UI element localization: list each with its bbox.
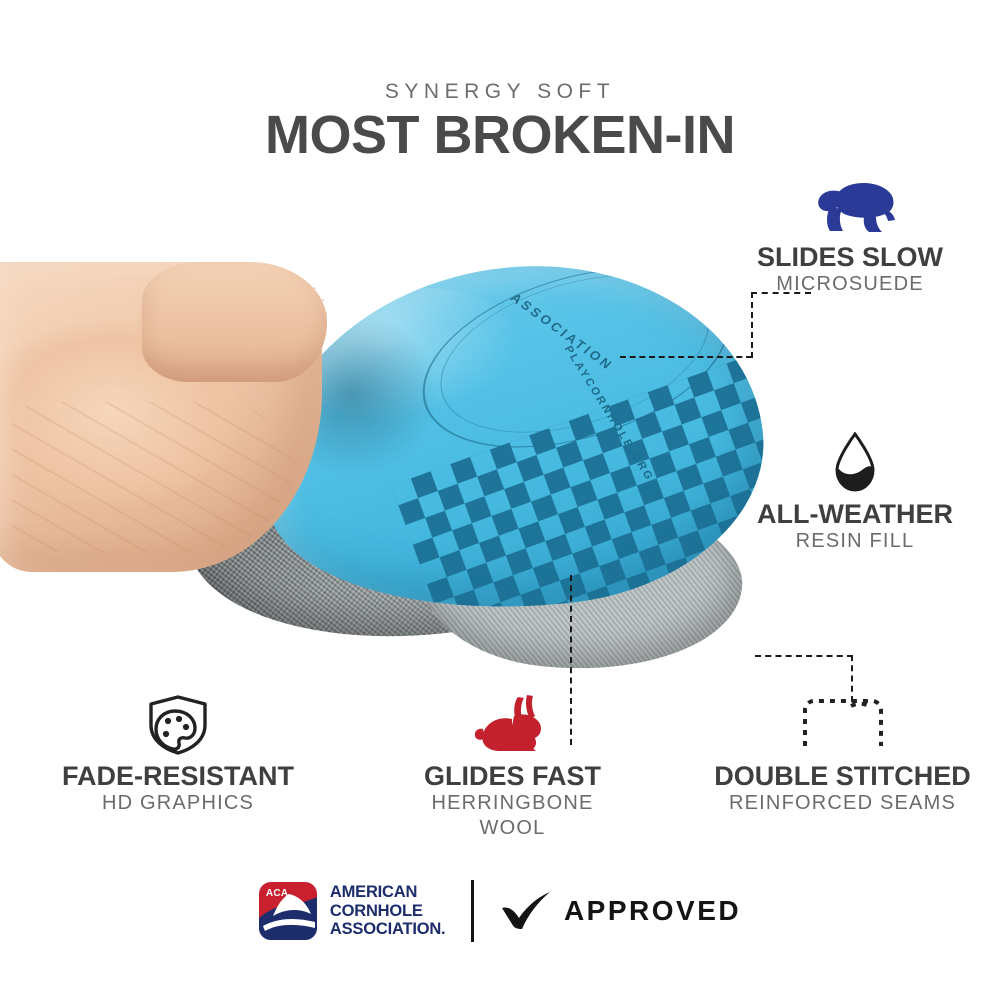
approved-badge: APPROVED <box>500 890 741 932</box>
aca-wordmark-line3: ASSOCIATION. <box>330 920 446 938</box>
feature-subtitle: HD GRAPHICS <box>28 792 328 814</box>
rabbit-icon <box>375 694 650 756</box>
connector-slides-slow-vertical <box>751 292 753 358</box>
aca-wordmark-line1: AMERICAN <box>330 883 446 901</box>
feature-title: GLIDES FAST <box>375 762 650 790</box>
footer-badges: ACA AMERICAN CORNHOLE ASSOCIATION. APPRO… <box>0 866 1000 956</box>
feature-title: SLIDES SLOW <box>700 243 1000 271</box>
connector-double-stitched-horizontal <box>755 655 853 657</box>
feature-title: ALL-WEATHER <box>715 500 995 528</box>
feature-subtitle: MICROSUEDE <box>700 273 1000 295</box>
aca-mark-label: ACA <box>266 888 289 899</box>
turtle-icon <box>700 175 1000 237</box>
feature-subtitle: REINFORCED SEAMS <box>690 792 995 814</box>
water-drop-icon <box>715 432 995 494</box>
hand-knuckle-lines <box>157 270 327 356</box>
footer-divider <box>471 880 474 942</box>
approved-label: APPROVED <box>564 895 741 927</box>
shield-palette-icon <box>28 694 328 756</box>
hand-palm-lines <box>12 402 292 552</box>
dashed-stitch-icon <box>690 694 995 756</box>
aca-logo: ACA AMERICAN CORNHOLE ASSOCIATION. <box>259 882 446 940</box>
feature-title: FADE-RESISTANT <box>28 762 328 790</box>
feature-glides-fast: GLIDES FAST HERRINGBONE WOOL <box>375 694 650 839</box>
aca-mark-icon: ACA <box>259 882 317 940</box>
checkmark-icon <box>500 890 554 932</box>
feature-subtitle-line1: HERRINGBONE <box>375 792 650 814</box>
feature-subtitle: RESIN FILL <box>715 530 995 552</box>
feature-title: DOUBLE STITCHED <box>690 762 995 790</box>
feature-slides-slow: SLIDES SLOW MICROSUEDE <box>700 175 1000 296</box>
eyebrow-text: SYNERGY SOFT <box>0 80 1000 104</box>
aca-wordmark: AMERICAN CORNHOLE ASSOCIATION. <box>330 883 446 938</box>
feature-subtitle-line2: WOOL <box>375 817 650 839</box>
infographic-page: SYNERGY SOFT MOST BROKEN-IN ASSOCIATION … <box>0 0 1000 1000</box>
product-photo: ASSOCIATION PLAYCORNHOLE.ORG <box>0 240 772 660</box>
feature-double-stitched: DOUBLE STITCHED REINFORCED SEAMS <box>690 694 995 815</box>
connector-slides-slow-horizontal <box>620 356 752 358</box>
page-title: MOST BROKEN-IN <box>0 104 1000 166</box>
aca-wordmark-line2: CORNHOLE <box>330 902 446 920</box>
feature-fade-resistant: FADE-RESISTANT HD GRAPHICS <box>28 694 328 815</box>
feature-all-weather: ALL-WEATHER RESIN FILL <box>715 432 995 553</box>
